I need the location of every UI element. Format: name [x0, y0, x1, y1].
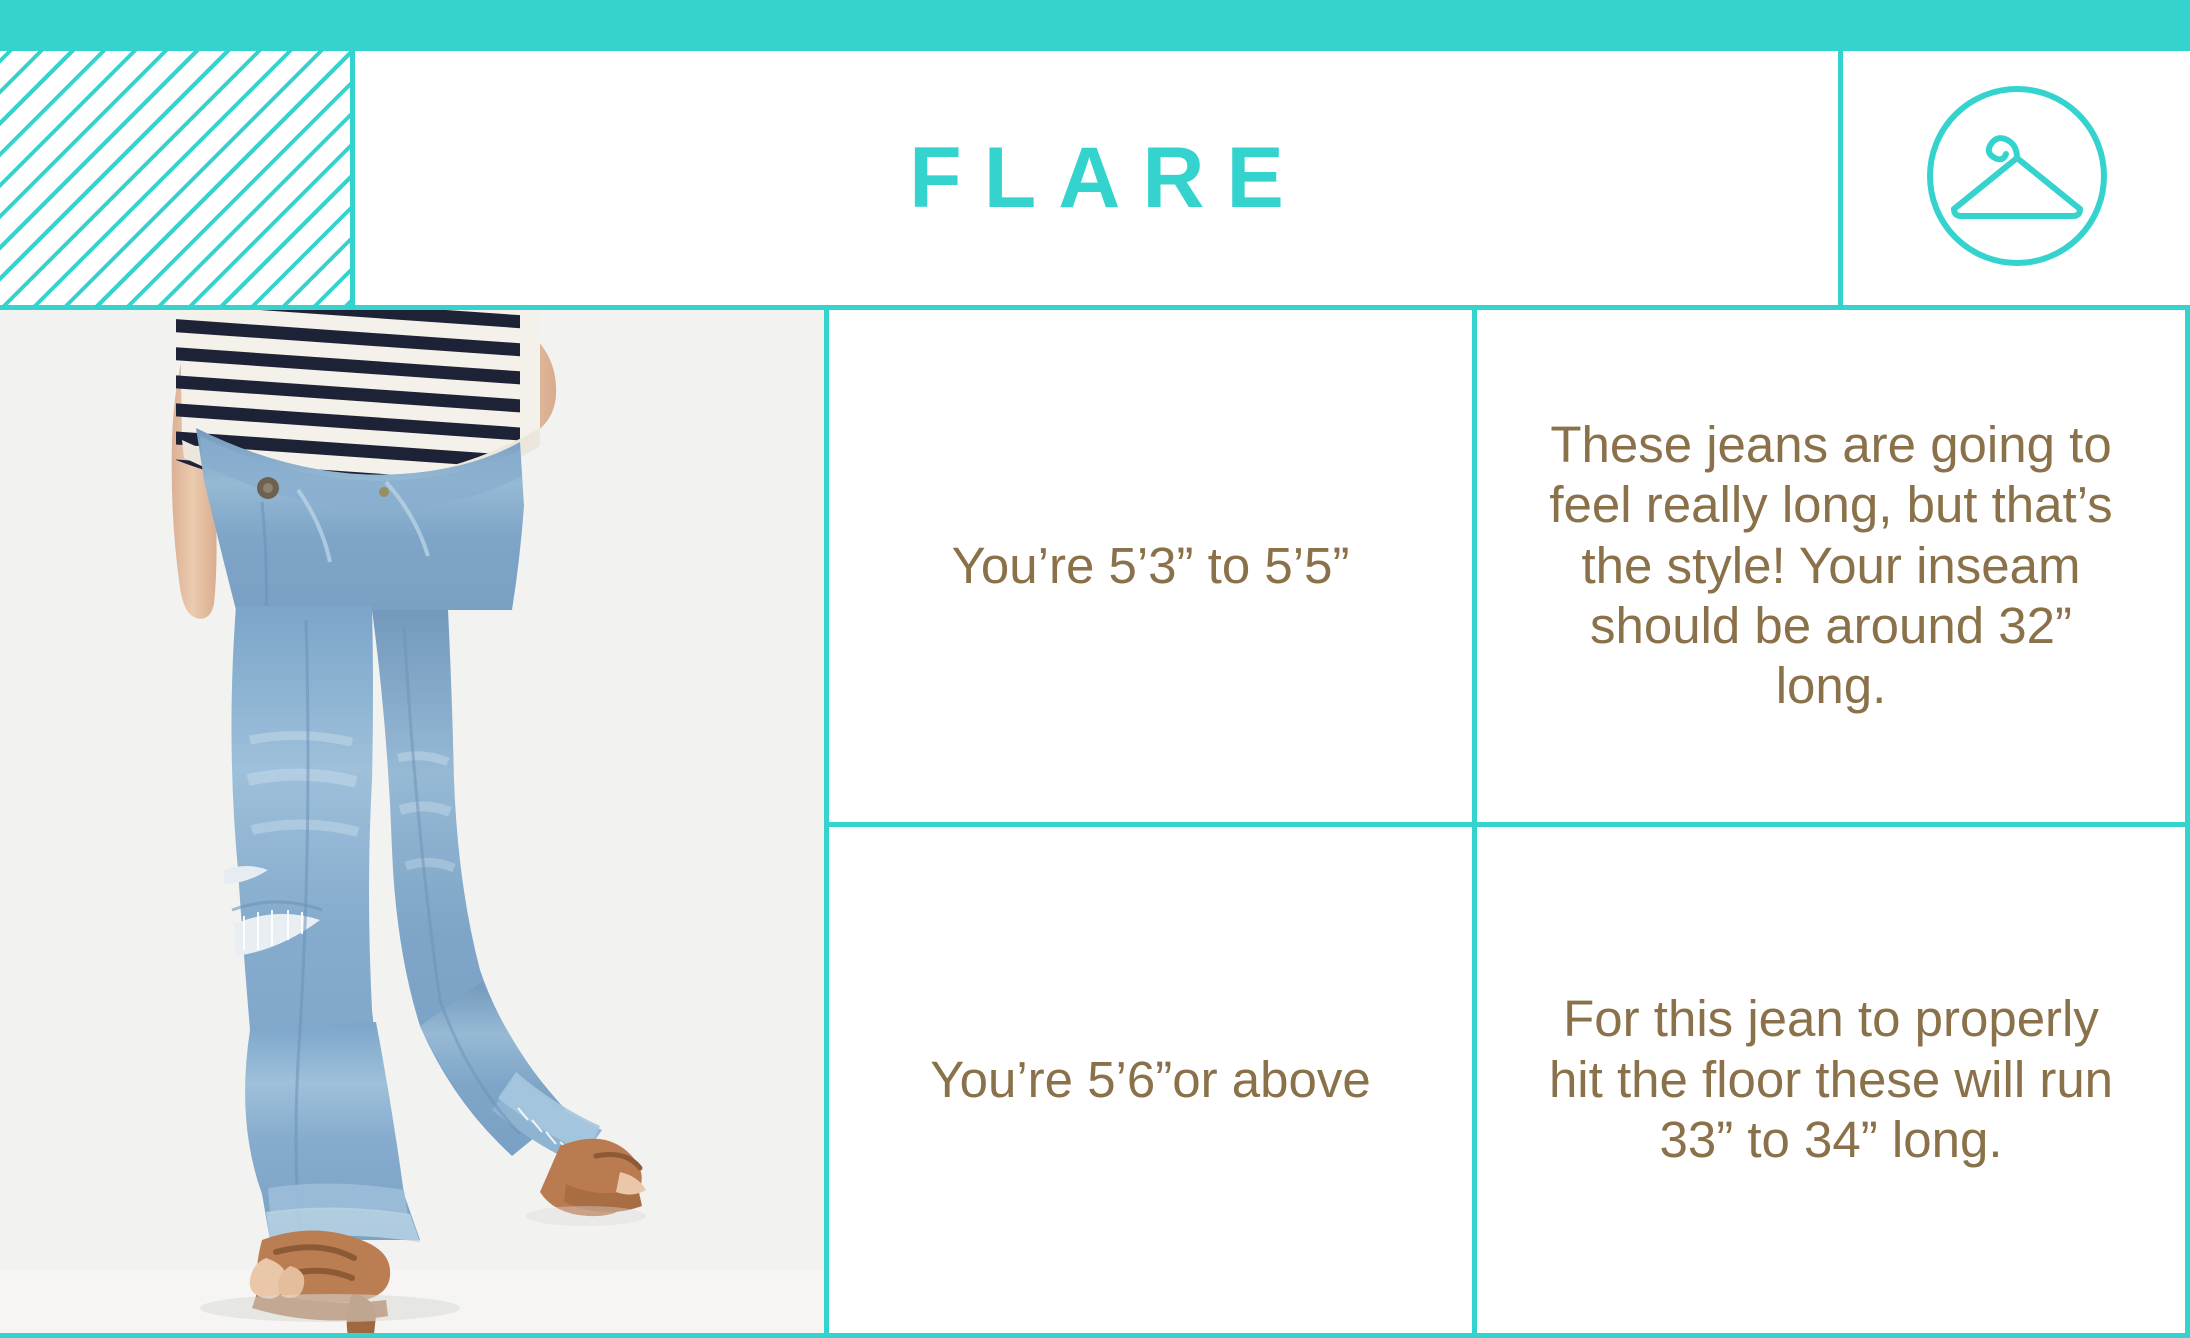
- table-row: You’re 5’3” to 5’5” These jeans are goin…: [829, 310, 2185, 822]
- height-cell: You’re 5’6”or above: [829, 827, 1477, 1334]
- striped-pattern-swatch: [0, 46, 355, 310]
- page-title: FLARE: [887, 135, 1306, 221]
- fit-table: You’re 5’3” to 5’5” These jeans are goin…: [824, 310, 2190, 1338]
- title-cell: FLARE: [355, 51, 1843, 305]
- fit-guide-graphic: FLARE: [0, 0, 2190, 1338]
- photo-bottom-rule: [0, 1333, 824, 1338]
- body-row: You’re 5’3” to 5’5” These jeans are goin…: [0, 310, 2190, 1338]
- advice-cell: For this jean to properly hit the floor …: [1477, 827, 2185, 1334]
- height-label: You’re 5’3” to 5’5”: [952, 536, 1350, 596]
- advice-text: These jeans are going to feel really lon…: [1533, 415, 2129, 716]
- table-row: You’re 5’6”or above For this jean to pro…: [829, 822, 2185, 1334]
- height-label: You’re 5’6”or above: [930, 1050, 1370, 1110]
- top-accent-bar: [0, 0, 2190, 46]
- icon-cell: [1843, 51, 2190, 305]
- product-photo: [0, 310, 824, 1338]
- height-cell: You’re 5’3” to 5’5”: [829, 310, 1477, 822]
- header-strip: FLARE: [355, 46, 2190, 310]
- hanger-icon: [1922, 81, 2112, 276]
- advice-cell: These jeans are going to feel really lon…: [1477, 310, 2185, 822]
- advice-text: For this jean to properly hit the floor …: [1533, 989, 2129, 1170]
